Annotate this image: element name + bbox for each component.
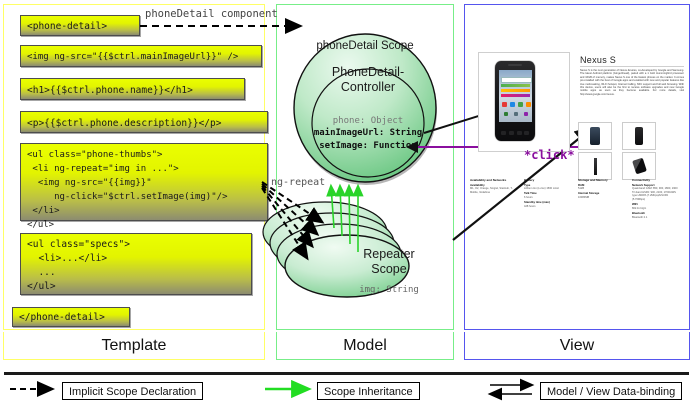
controller-member-setimage: setImage: Function xyxy=(319,140,417,151)
spec-value: 512B xyxy=(578,187,626,191)
phone-dock-icon-3 xyxy=(524,112,528,116)
spec-value: Lithium Ion (Li-Ion) 1500 mAH xyxy=(524,187,572,191)
phone-name-heading: Nexus S xyxy=(580,55,684,65)
spec-heading: Availability and Networks xyxy=(470,178,518,182)
spec-heading: Storage and Memory xyxy=(578,178,626,182)
phone-device-illustration xyxy=(495,61,535,141)
controller-member-phone: phone: Object xyxy=(333,116,403,126)
spec-value: M1, O2, Orange, Singtel, StarHub, T-Mobi… xyxy=(470,187,518,194)
phone-button-menu xyxy=(509,131,514,135)
phone-dock-icon-2 xyxy=(514,112,518,116)
spec-heading: Connectivity xyxy=(632,178,680,182)
spec-value: 802.11 b/g/n xyxy=(632,207,680,211)
legend-item-scope-inheritance: Scope Inheritance xyxy=(317,382,420,400)
phone-app-icon-3 xyxy=(518,102,523,107)
repeater-scope-label-line2: Scope xyxy=(371,262,406,276)
phone-app-icon-4 xyxy=(526,102,531,107)
repeater-scope-label-line1: Repeater xyxy=(363,247,414,261)
legend-item-implicit-scope: Implicit Scope Declaration xyxy=(62,382,203,400)
click-annotation: *click* xyxy=(524,148,575,162)
phone-button-search xyxy=(524,131,529,135)
phone-screen-row-1 xyxy=(501,84,530,87)
controller-label-line1: PhoneDetail- xyxy=(332,65,404,79)
phonedetail-scope-label: phoneDetail Scope xyxy=(316,40,413,52)
spec-value: 6 hours xyxy=(524,196,572,200)
phonedetail-scope xyxy=(294,34,436,182)
spec-column: Battery Type Lithium Ion (Li-Ion) 1500 m… xyxy=(524,178,572,219)
controller-label-line2: Controller xyxy=(341,80,395,94)
phone-thumbnail-1[interactable] xyxy=(578,122,612,150)
spec-value: Quad-band GSM: 850, 900, 1800, 1900 Tri-… xyxy=(632,187,680,201)
phone-screen xyxy=(499,70,532,122)
phone-app-icon-1 xyxy=(502,102,507,107)
repeater-member-img: img: String xyxy=(359,285,419,295)
phone-description: Nexus S is the next generation of Nexus … xyxy=(580,69,684,96)
spec-value: Bluetooth 2.1 xyxy=(632,216,680,220)
spec-value: 428 hours xyxy=(524,205,572,209)
spec-column: Storage and Memory RAM 512B Internal Sto… xyxy=(578,178,626,219)
phone-main-image-card xyxy=(478,52,570,152)
phone-button-back xyxy=(501,131,506,135)
phone-search-bar xyxy=(501,77,532,83)
phone-button-home xyxy=(517,131,522,135)
phone-screen-row-2 xyxy=(501,89,530,92)
phone-app-icon-2 xyxy=(510,102,515,107)
spec-value: 16384MB xyxy=(578,196,626,200)
phone-screen-row-3 xyxy=(501,94,530,97)
legend-item-data-binding: Model / View Data-binding xyxy=(540,382,682,400)
phone-button-row xyxy=(501,129,529,137)
phone-specs-table: Availability and Networks Availability M… xyxy=(470,178,684,219)
controller-member-mainimageurl: mainImageUrl: String xyxy=(314,127,422,138)
phone-thumbnail-2[interactable] xyxy=(622,122,656,150)
phone-name-divider xyxy=(580,66,684,67)
spec-column: Connectivity Network Support Quad-band G… xyxy=(632,178,680,219)
phone-thumbnail-3[interactable] xyxy=(578,152,612,180)
spec-heading: Battery xyxy=(524,178,572,182)
thumbnail-1-glyph xyxy=(590,127,600,145)
thumbnail-4-glyph xyxy=(632,158,647,175)
legend-divider xyxy=(4,372,689,375)
phone-dock-icon-1 xyxy=(504,112,508,116)
phone-speaker-icon xyxy=(508,64,522,66)
thumbnail-2-glyph xyxy=(635,127,643,145)
phone-thumbnail-4[interactable] xyxy=(622,152,656,180)
spec-column: Availability and Networks Availability M… xyxy=(470,178,518,219)
thumbnail-3-glyph xyxy=(594,158,597,175)
